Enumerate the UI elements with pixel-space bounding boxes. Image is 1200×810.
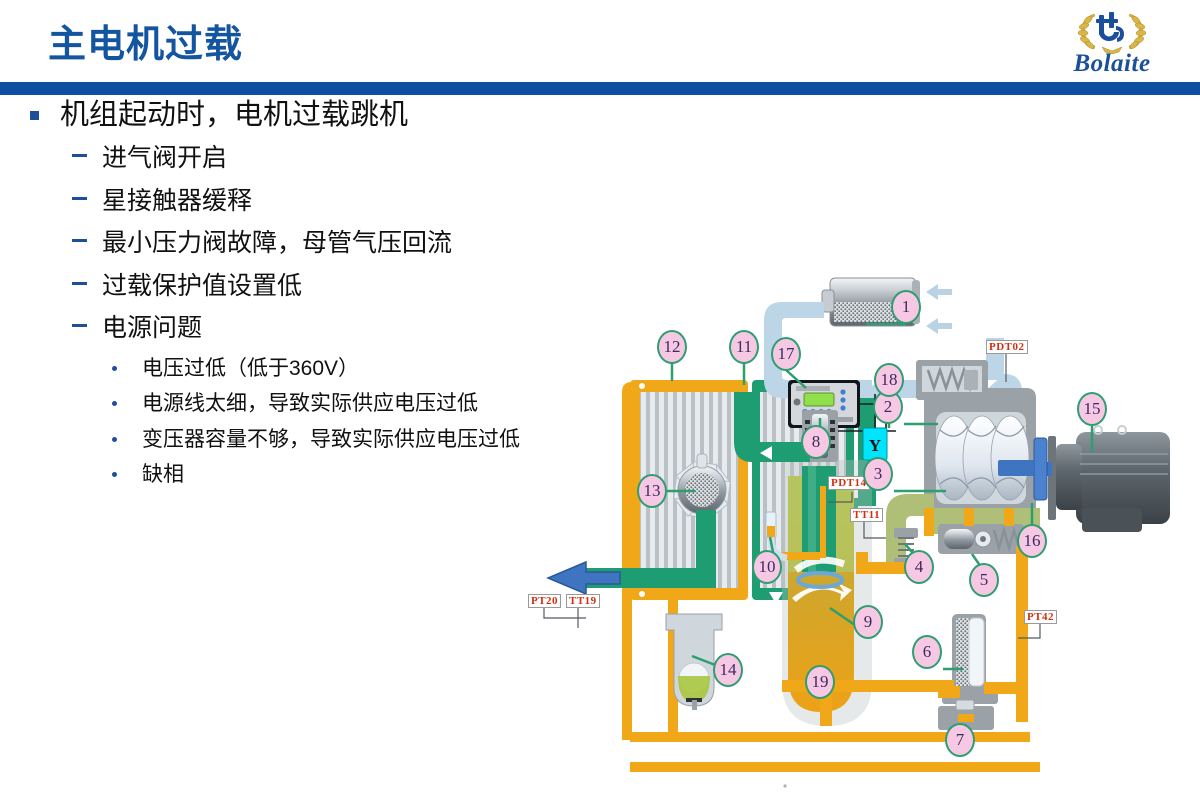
bullet-text: 电压过低（低于360V） <box>142 357 359 380</box>
dash-bullet-icon <box>72 239 87 242</box>
dot-bullet-icon <box>112 472 117 477</box>
dash-bullet-icon <box>72 324 87 327</box>
callout-9: 9 <box>853 605 883 639</box>
bullet-text: 电源问题 <box>102 314 202 342</box>
callout-11: 11 <box>729 330 759 364</box>
dash-bullet-icon <box>72 282 87 285</box>
air-intake-filter <box>822 278 952 334</box>
sensor-tag-PT42: PT42 <box>1024 610 1057 624</box>
compressor-flow-diagram: Y <box>520 262 1190 807</box>
callout-13: 13 <box>637 474 667 508</box>
bullet-list: 机组起动时，电机过载跳机 进气阀开启 星接触器缓释 最小压力阀故障，母管气压回流… <box>16 98 526 498</box>
bullet-text: 电源线太细，导致实际供应电压过低 <box>142 392 478 415</box>
title-underline-bar <box>0 82 1200 95</box>
bullet-text: 星接触器缓释 <box>102 187 252 215</box>
brand-name: Bolaite <box>1042 50 1182 78</box>
slide: 主电机过载 <box>0 0 1200 810</box>
bullet-level2: 过载保护值设置低 <box>16 271 526 302</box>
bullet-text: 进气阀开启 <box>102 144 227 172</box>
bullet-text: 过载保护值设置低 <box>102 272 302 300</box>
bullet-level1: 机组起动时，电机过载跳机 <box>16 98 526 133</box>
callout-12: 12 <box>657 330 687 364</box>
bolaite-monogram-wreath-icon <box>1072 6 1152 54</box>
bullet-level3: 电压过低（低于360V） <box>16 356 526 382</box>
bullet-text: 变压器容量不够，导致实际供应电压过低 <box>142 428 520 451</box>
sensor-tag-TT11: TT11 <box>850 508 883 522</box>
bullet-level2: 最小压力阀故障，母管气压回流 <box>16 228 526 259</box>
bullet-text: 最小压力阀故障，母管气压回流 <box>102 229 452 257</box>
dash-bullet-icon <box>72 197 87 200</box>
oil-filter-assembly <box>938 524 1024 554</box>
callout-18: 18 <box>874 363 904 397</box>
callout-6: 6 <box>912 635 942 669</box>
dot-bullet-icon <box>112 401 117 406</box>
callout-8: 8 <box>801 425 831 459</box>
bullet-text: 缺相 <box>142 463 184 486</box>
callout-4: 4 <box>904 550 934 584</box>
callout-5: 5 <box>969 563 999 597</box>
sensor-tag-TT19: TT19 <box>566 594 600 608</box>
bullet-level3: 缺相 <box>16 462 526 488</box>
callout-7: 7 <box>945 723 975 757</box>
square-bullet-icon <box>30 111 39 120</box>
bullet-level3: 电源线太细，导致实际供应电压过低 <box>16 391 526 417</box>
page-title: 主电机过载 <box>48 26 243 64</box>
dash-bullet-icon <box>72 154 87 157</box>
main-drive-motor <box>1048 426 1170 532</box>
callout-16: 16 <box>1017 524 1047 558</box>
dot-bullet-icon <box>112 437 117 442</box>
callout-1: 1 <box>891 290 921 324</box>
sensor-tag-PDT02: PDT02 <box>986 340 1028 354</box>
relay-label: Y <box>869 436 881 455</box>
sensor-tag-PT20: PT20 <box>528 594 561 608</box>
bullet-level2: 进气阀开启 <box>16 143 526 174</box>
intake-valve <box>916 360 988 400</box>
bullet-level2: 电源问题 <box>16 313 526 344</box>
callout-19: 19 <box>805 665 835 699</box>
dot-bullet-icon <box>112 366 117 371</box>
callout-14: 14 <box>713 653 743 687</box>
outlet-flow-arrow <box>548 562 620 594</box>
callout-17: 17 <box>771 337 801 371</box>
diagram-svg: Y <box>520 262 1190 807</box>
brand-logo: Bolaite <box>1042 6 1182 80</box>
callout-3: 3 <box>863 457 893 491</box>
bullet-level2: 星接触器缓释 <box>16 186 526 217</box>
bullet-level3: 变压器容量不够，导致实际供应电压过低 <box>16 427 526 453</box>
callout-15: 15 <box>1077 392 1107 426</box>
callout-10: 10 <box>752 550 782 584</box>
bullet-text: 机组起动时，电机过载跳机 <box>60 99 408 131</box>
